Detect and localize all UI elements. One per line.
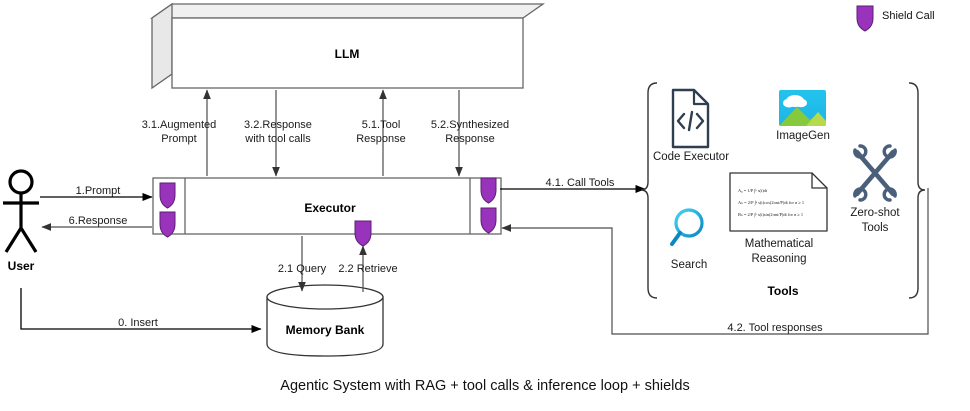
tool-label-math-2: Reasoning: [752, 253, 807, 265]
edge-call-tools-label: 4.1. Call Tools: [546, 177, 615, 189]
tools-brace-left: [641, 83, 657, 298]
legend-label: Shield Call: [882, 10, 935, 22]
tool-label-code-executor: Code Executor: [653, 151, 729, 163]
memory-bank-node: Memory Bank: [267, 285, 383, 356]
llm-node: LLM: [152, 4, 543, 88]
edge-tool-responses-label: 4.2. Tool responses: [727, 322, 823, 334]
edge-tool-response-l2: Response: [356, 133, 406, 145]
tools-group-label: Tools: [767, 284, 798, 298]
crossed-wrenches-icon: [855, 146, 895, 200]
tool-label-search: Search: [671, 259, 707, 271]
math-document-icon: A₀ = 1/P ∫ᵖ s(t)dt Aₙ = 2/P ∫ᵖ s(t)cos(2…: [730, 173, 827, 231]
diagram-canvas: LLM Executor User Memory Bank 1.Prompt: [0, 0, 970, 411]
tool-label-imagegen: ImageGen: [776, 130, 830, 142]
diagram-caption: Agentic System with RAG + tool calls & i…: [280, 378, 689, 394]
edge-tool-response-l1: 5.1.Tool: [362, 119, 401, 131]
executor-label: Executor: [304, 201, 356, 215]
shield-icon-exec-memory: [355, 221, 371, 246]
magnifier-icon: [672, 210, 702, 244]
code-document-icon: [673, 90, 708, 147]
user-node: [3, 171, 39, 252]
edge-response-tool-calls-l2: with tool calls: [244, 133, 311, 145]
tool-label-zeroshot-2: Tools: [862, 222, 889, 234]
tool-label-math-1: Mathematical: [745, 238, 813, 250]
edge-augmented-prompt-l2: Prompt: [161, 133, 196, 145]
edge-augmented-prompt-l1: 3.1.Augmented: [142, 119, 217, 131]
tools-brace-right: [909, 83, 925, 298]
edge-synthesized-response-l1: 5.2.Synthesized: [431, 119, 509, 131]
edge-response-label: 6.Response: [69, 215, 128, 227]
memory-bank-label: Memory Bank: [286, 323, 365, 337]
legend-shield-icon: [857, 6, 873, 31]
edge-query-label: 2.1 Query: [278, 263, 327, 275]
image-picture-icon: [779, 90, 826, 126]
edge-insert-label: 0. Insert: [118, 317, 158, 329]
user-label: User: [8, 259, 35, 273]
tool-label-zeroshot-1: Zero-shot: [850, 207, 900, 219]
executor-node: Executor: [153, 178, 501, 234]
edge-retrieve-label: 2.2 Retrieve: [338, 263, 397, 275]
llm-label: LLM: [335, 47, 360, 61]
edge-synthesized-response-l2: Response: [445, 133, 495, 145]
edge-prompt-label: 1.Prompt: [76, 185, 121, 197]
edge-response-tool-calls-l1: 3.2.Response: [244, 119, 312, 131]
